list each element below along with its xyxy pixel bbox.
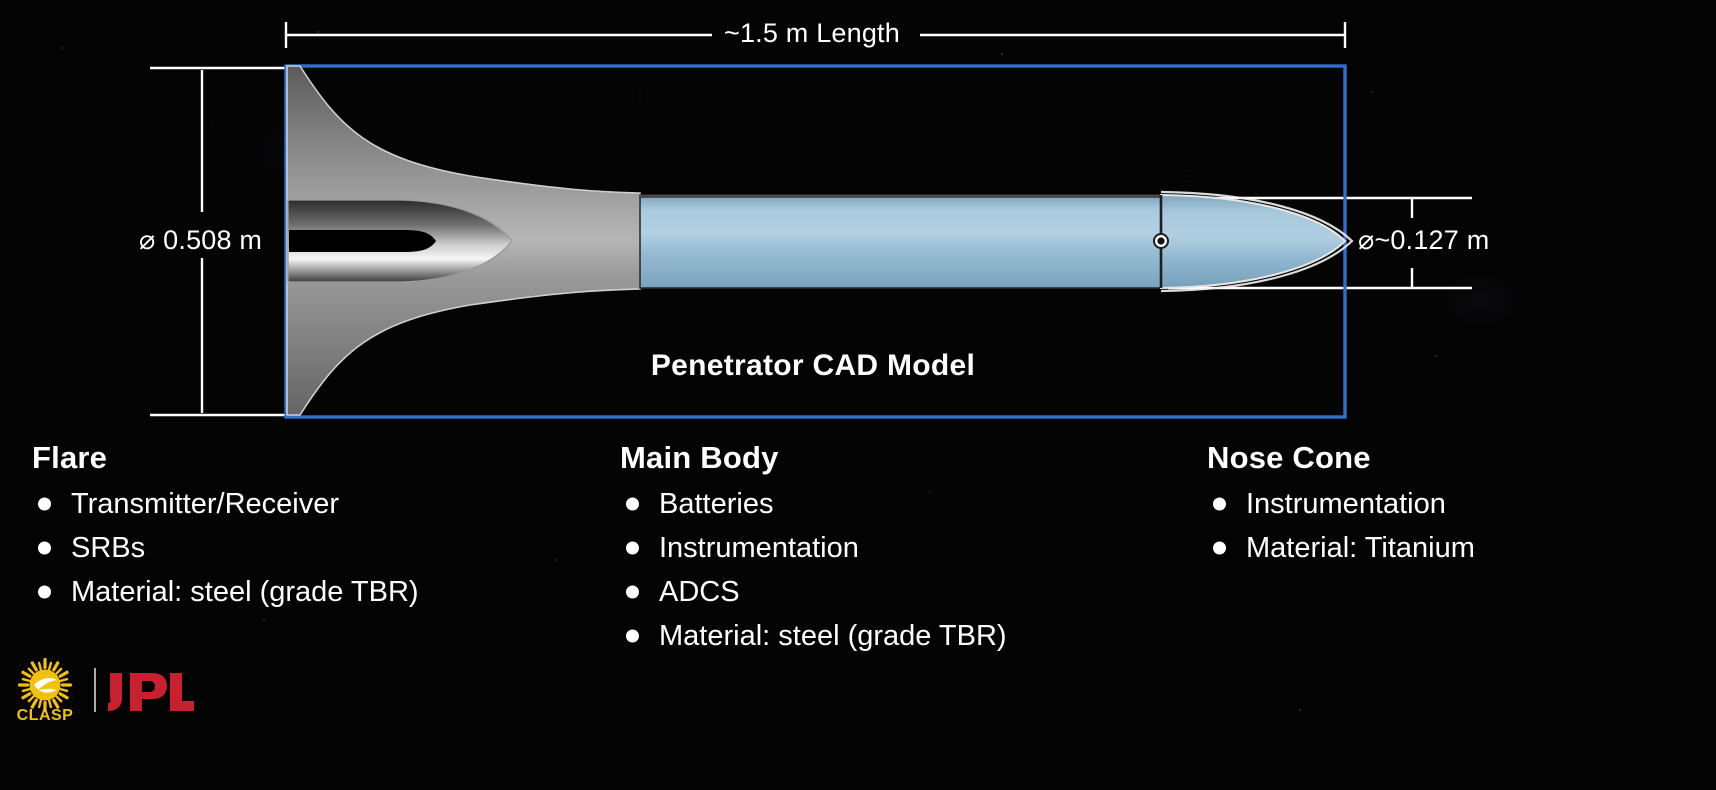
bullet-icon <box>626 542 639 555</box>
bullet-icon <box>626 586 639 599</box>
jpl-logo <box>108 667 194 713</box>
bullet-icon <box>38 498 51 511</box>
list-item: Instrumentation <box>618 526 1007 570</box>
jpl-wordmark <box>108 673 194 711</box>
list-item-label: SRBs <box>71 532 145 564</box>
logo-bar: CLASP <box>8 655 194 725</box>
list-item: Material: steel (grade TBR) <box>618 614 1007 658</box>
clasp-logo: CLASP <box>8 656 82 724</box>
clasp-sunburst-icon <box>18 658 72 712</box>
list-item-label: Material: Titanium <box>1246 532 1475 564</box>
column-main-body-list: Batteries Instrumentation ADCS Material:… <box>618 482 1007 658</box>
column-nose-cone-heading: Nose Cone <box>1207 440 1475 476</box>
list-item: Material: Titanium <box>1205 526 1475 570</box>
list-item-label: Batteries <box>659 488 773 520</box>
list-item: SRBs <box>30 526 419 570</box>
flare-inner-slot <box>289 230 436 252</box>
list-item-label: Material: steel (grade TBR) <box>71 576 419 608</box>
main-body-tube <box>640 195 1161 288</box>
bullet-icon <box>626 630 639 643</box>
length-dimension-label: ~1.5 m Length <box>724 18 900 49</box>
component-breakdown: Flare Transmitter/Receiver SRBs Material… <box>0 440 1716 740</box>
bullet-icon <box>38 586 51 599</box>
clasp-wordmark: CLASP <box>17 707 74 724</box>
bullet-icon <box>38 542 51 555</box>
list-item-label: ADCS <box>659 576 740 608</box>
list-item-label: Transmitter/Receiver <box>71 488 339 520</box>
body-diameter-label: ⌀~0.127 m <box>1358 225 1489 256</box>
bullet-icon <box>1213 498 1226 511</box>
column-flare-list: Transmitter/Receiver SRBs Material: stee… <box>30 482 419 614</box>
column-flare: Flare Transmitter/Receiver SRBs Material… <box>30 440 419 614</box>
list-item: Batteries <box>618 482 1007 526</box>
list-item-label: Material: steel (grade TBR) <box>659 620 1007 652</box>
list-item-label: Instrumentation <box>1246 488 1446 520</box>
list-item: ADCS <box>618 570 1007 614</box>
column-flare-heading: Flare <box>32 440 419 476</box>
cad-model-title: Penetrator CAD Model <box>0 349 1626 383</box>
column-main-body-heading: Main Body <box>620 440 1007 476</box>
bullet-icon <box>626 498 639 511</box>
slide-canvas: ~1.5 m Length ⌀ 0.508 m ⌀~0.127 m Penetr… <box>0 0 1716 790</box>
column-main-body: Main Body Batteries Instrumentation ADCS… <box>618 440 1007 658</box>
list-item: Material: steel (grade TBR) <box>30 570 419 614</box>
nose-cone <box>1161 195 1345 288</box>
logo-divider <box>94 668 96 712</box>
list-item: Transmitter/Receiver <box>30 482 419 526</box>
bullet-icon <box>1213 542 1226 555</box>
column-nose-cone: Nose Cone Instrumentation Material: Tita… <box>1205 440 1475 570</box>
column-nose-cone-list: Instrumentation Material: Titanium <box>1205 482 1475 570</box>
flare-diameter-label: ⌀ 0.508 m <box>139 225 262 256</box>
list-item-label: Instrumentation <box>659 532 859 564</box>
list-item: Instrumentation <box>1205 482 1475 526</box>
